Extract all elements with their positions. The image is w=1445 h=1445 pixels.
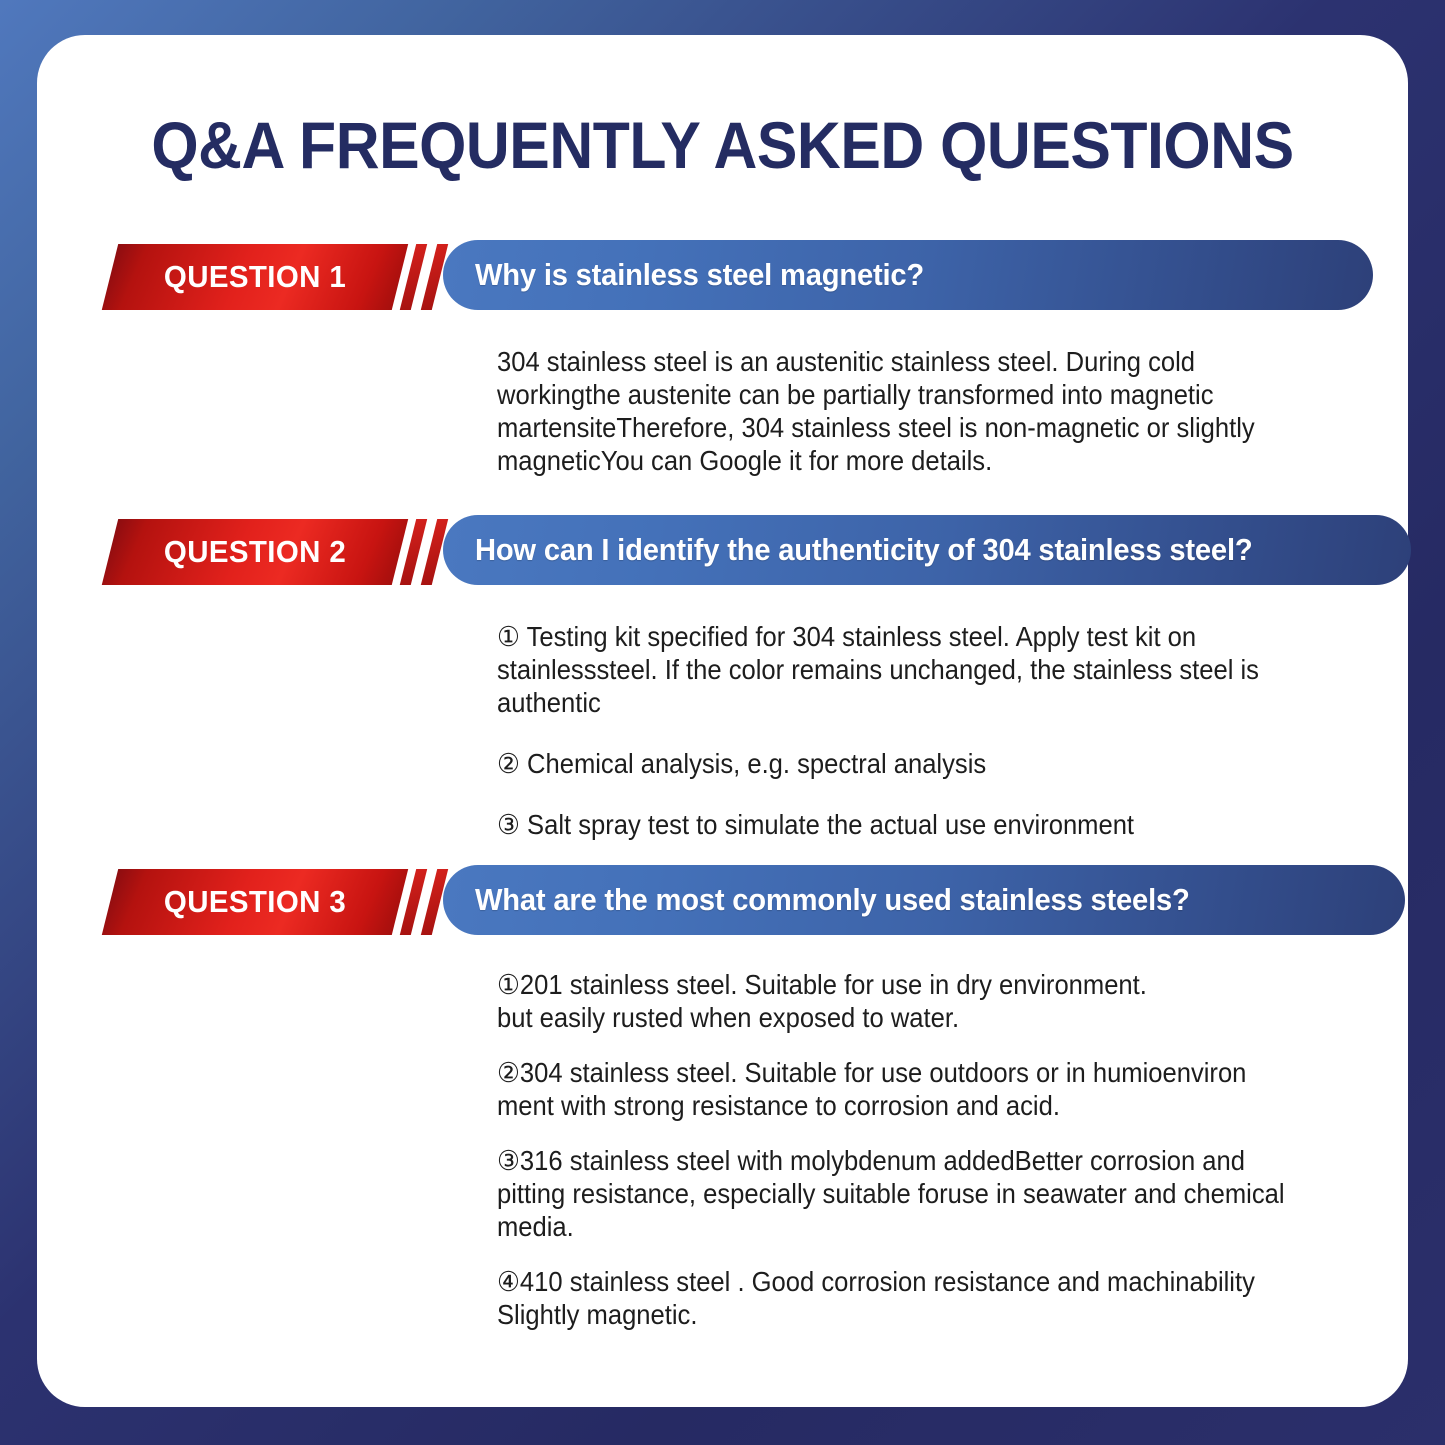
- faq-header-3: QUESTION 3 What are the most commonly us…: [37, 865, 1408, 935]
- answer-paragraph: ① Testing kit specified for 304 stainles…: [497, 620, 1315, 719]
- question-badge-label-3: QUESTION 3: [117, 869, 393, 935]
- faq-block-3: QUESTION 3 What are the most commonly us…: [37, 865, 1408, 935]
- question-badge-label-1: QUESTION 1: [117, 244, 393, 310]
- question-pill-3[interactable]: What are the most commonly used stainles…: [443, 865, 1405, 935]
- question-pill-2[interactable]: How can I identify the authenticity of 3…: [443, 515, 1411, 585]
- faq-answers-3: ①201 stainless steel. Suitable for use i…: [497, 968, 1377, 1331]
- faq-answers-2: ① Testing kit specified for 304 stainles…: [497, 620, 1377, 841]
- question-text-1: Why is stainless steel magnetic?: [443, 257, 950, 293]
- faq-answers-1: 304 stainless steel is an austenitic sta…: [497, 345, 1377, 477]
- question-badge-label-2: QUESTION 2: [117, 519, 393, 585]
- faq-block-2: QUESTION 2 How can I identify the authen…: [37, 515, 1408, 585]
- question-text-2: How can I identify the authenticity of 3…: [443, 532, 1279, 568]
- answer-paragraph: 304 stainless steel is an austenitic sta…: [497, 345, 1315, 477]
- answer-paragraph: ①201 stainless steel. Suitable for use i…: [497, 968, 1315, 1034]
- question-pill-1[interactable]: Why is stainless steel magnetic?: [443, 240, 1373, 310]
- answer-paragraph: ③316 stainless steel with molybdenum add…: [497, 1144, 1315, 1243]
- answer-paragraph: ③ Salt spray test to simulate the actual…: [497, 808, 1315, 841]
- faq-header-1: QUESTION 1 Why is stainless steel magnet…: [37, 240, 1408, 310]
- faq-page: Q&A FREQUENTLY ASKED QUESTIONS QUESTION …: [0, 0, 1445, 1445]
- question-text-3: What are the most commonly used stainles…: [443, 882, 1216, 918]
- answer-paragraph: ④410 stainless steel . Good corrosion re…: [497, 1265, 1315, 1331]
- faq-card: Q&A FREQUENTLY ASKED QUESTIONS QUESTION …: [37, 35, 1408, 1407]
- faq-header-2: QUESTION 2 How can I identify the authen…: [37, 515, 1408, 585]
- answer-paragraph: ② Chemical analysis, e.g. spectral analy…: [497, 747, 1315, 780]
- page-title: Q&A FREQUENTLY ASKED QUESTIONS: [92, 107, 1353, 183]
- faq-block-1: QUESTION 1 Why is stainless steel magnet…: [37, 240, 1408, 310]
- answer-paragraph: ②304 stainless steel. Suitable for use o…: [497, 1056, 1315, 1122]
